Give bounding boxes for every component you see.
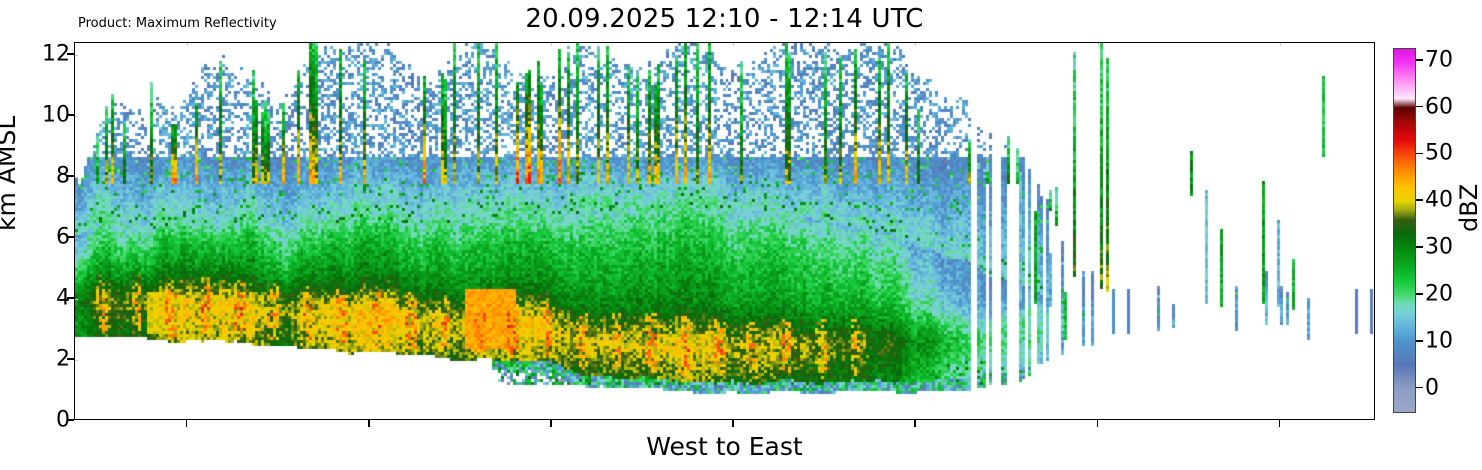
colorbar-title: dBZ [1455,184,1482,232]
colorbar-tick-label: 60 [1425,94,1453,119]
plot-area [74,42,1375,420]
colorbar-tick-label: 70 [1425,47,1453,72]
x-axis-tick [368,420,370,427]
colorbar [1393,48,1416,413]
colorbar-tick [1416,153,1423,155]
colorbar-gradient [1394,49,1415,412]
radar-cross-section-figure: Product: Maximum Reflectivity 20.09.2025… [0,0,1482,470]
reflectivity-heatmap [75,43,1374,419]
x-axis-tick [914,420,916,427]
x-axis-tick [186,420,188,427]
y-axis-tick-label: 10 [42,103,70,128]
colorbar-tick [1416,59,1423,61]
colorbar-tick [1416,106,1423,108]
x-axis-title: West to East [74,432,1375,461]
y-axis-tick [67,236,74,238]
y-axis-title: km AMSL [0,116,21,231]
colorbar-tick-label: 50 [1425,141,1453,166]
y-axis-tick [67,114,74,116]
colorbar-tick-label: 0 [1425,375,1439,400]
colorbar-tick [1416,387,1423,389]
y-axis-tick-label: 12 [42,42,70,67]
figure-title: 20.09.2025 12:10 - 12:14 UTC [74,4,1375,34]
colorbar-tick [1416,340,1423,342]
colorbar-tick-label: 10 [1425,328,1453,353]
x-axis-tick [732,420,734,427]
colorbar-tick [1416,293,1423,295]
x-axis-tick [1097,420,1099,427]
y-axis-tick [67,358,74,360]
y-axis-tick [67,175,74,177]
y-axis-tick [67,53,74,55]
reflectivity-canvas [75,43,1375,420]
y-axis-tick [67,297,74,299]
x-axis-tick [550,420,552,427]
y-axis-tick [67,419,74,421]
colorbar-tick-label: 20 [1425,281,1453,306]
colorbar-tick [1416,199,1423,201]
colorbar-tick-label: 40 [1425,188,1453,213]
x-axis-tick [1279,420,1281,427]
colorbar-tick [1416,246,1423,248]
colorbar-tick-label: 30 [1425,235,1453,260]
